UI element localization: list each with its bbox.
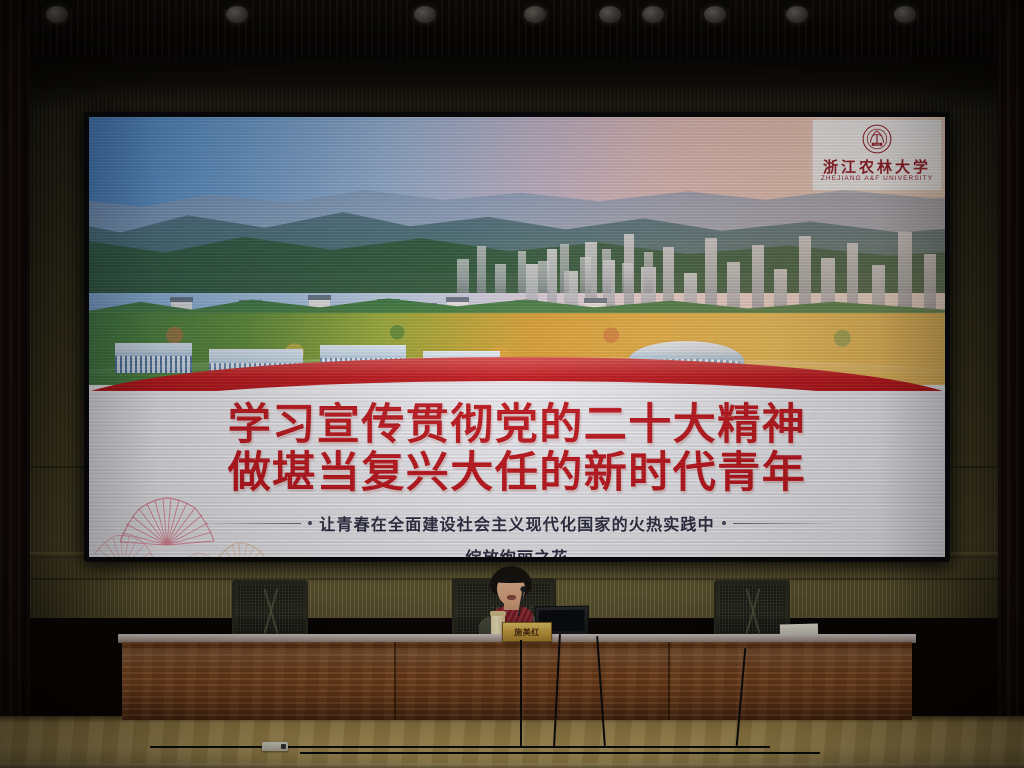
stage-cable [520, 640, 522, 746]
ceiling-spotlight [894, 6, 916, 23]
speaker-nameplate: 施美红 [502, 622, 552, 642]
ceiling-spotlight [786, 6, 808, 23]
table-front-panel [122, 642, 912, 720]
led-presentation-screen[interactable]: 学习宣传贯彻党的二十大精神 做堪当复兴大任的新时代青年 让青春在全面建设社会主义… [84, 112, 950, 562]
stage-curtain-right [998, 0, 1024, 768]
presentation-slide: 学习宣传贯彻党的二十大精神 做堪当复兴大任的新时代青年 让青春在全面建设社会主义… [89, 117, 945, 557]
subtitle-rule-right [733, 523, 838, 524]
subtitle-dot-right [722, 521, 726, 525]
papers [780, 624, 818, 636]
stage-floor [0, 716, 1024, 768]
stage-curtain-left [0, 0, 30, 768]
subtitle-rule-left [196, 523, 301, 524]
slide-text-area: 学习宣传贯彻党的二十大精神 做堪当复兴大任的新时代青年 让青春在全面建设社会主义… [89, 391, 945, 557]
ceiling [0, 0, 1024, 60]
ceiling-spotlight [46, 6, 68, 23]
ceiling-spotlight [226, 6, 248, 23]
slide-subtitle-line1: 让青春在全面建设社会主义现代化国家的火热实践中 [319, 511, 715, 535]
chair-right[interactable] [714, 580, 786, 638]
slide-title-line1: 学习宣传贯彻党的二十大精神 [228, 401, 807, 449]
chair-left[interactable] [232, 580, 304, 638]
ceiling-spotlight [642, 6, 664, 23]
floor-wood-texture [0, 716, 1024, 768]
ceiling-ribbing [0, 0, 1024, 60]
slide-subtitle-group: 让青春在全面建设社会主义现代化国家的火热实践中 绽放绚丽之花 [89, 511, 945, 557]
wall-top-shadow [30, 58, 998, 110]
university-name-cn: 浙江农林大学 [813, 156, 941, 177]
ceiling-spotlight [599, 6, 621, 23]
panel-table [122, 634, 912, 720]
stage-cable [300, 752, 820, 754]
slide-title-line2: 做堪当复兴大任的新时代青年 [89, 449, 945, 497]
svg-text:1958: 1958 [874, 143, 881, 146]
auditorium-scene: 学习宣传贯彻党的二十大精神 做堪当复兴大任的新时代青年 让青春在全面建设社会主义… [0, 0, 1024, 768]
university-name-en: ZHEJIANG A&F UNIVERSITY [813, 175, 941, 182]
slide-title: 学习宣传贯彻党的二十大精神 做堪当复兴大任的新时代青年 [89, 401, 945, 497]
university-crest-icon: 1958 [862, 124, 892, 154]
ceiling-spotlight [704, 6, 726, 23]
stage-cable [150, 746, 770, 748]
slide-subtitle-line2: 绽放绚丽之花 [89, 544, 945, 557]
nameplate-text: 施美红 [514, 627, 540, 638]
ceiling-spotlight [414, 6, 436, 23]
ceiling-spotlight [524, 6, 546, 23]
university-logo: 1958 浙江农林大学 ZHEJIANG A&F UNIVERSITY [813, 120, 941, 190]
power-strip [262, 742, 288, 751]
speaker-mouth [507, 595, 516, 600]
subtitle-dot-left [308, 521, 312, 525]
